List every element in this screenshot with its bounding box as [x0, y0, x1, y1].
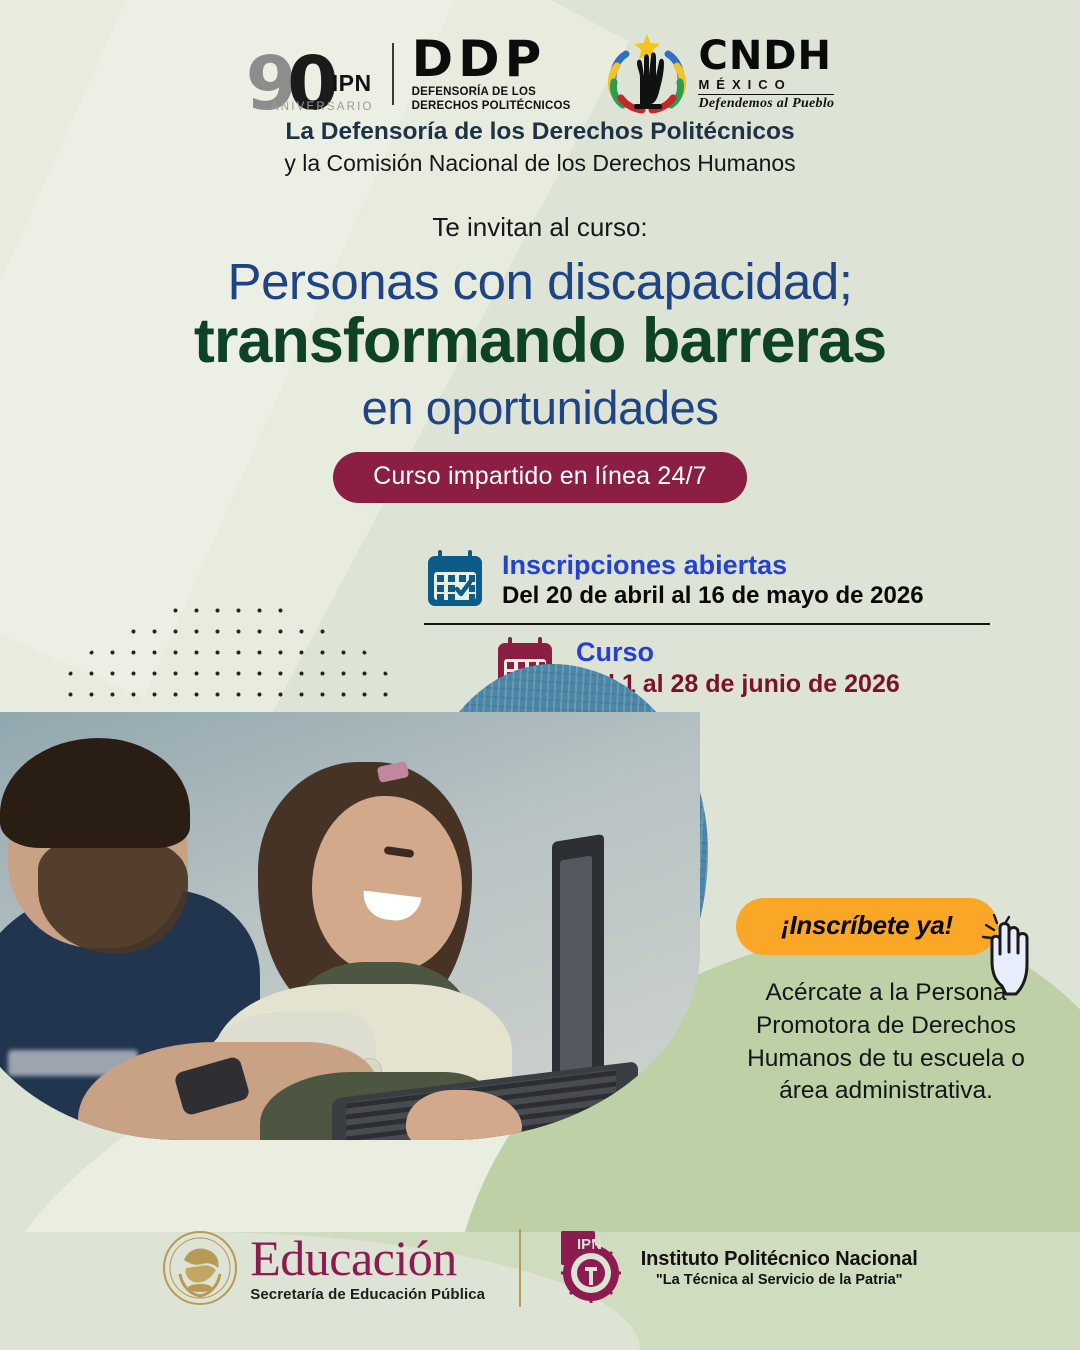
cndh-emblem-icon	[604, 32, 690, 116]
ddp-subtitle: DEFENSORÍA DE LOS DERECHOS POLITÉCNICOS	[412, 86, 571, 113]
logo-divider	[392, 43, 394, 105]
enroll-now-label: ¡Inscríbete ya!	[781, 910, 953, 940]
organizer-line-1: La Defensoría de los Derechos Politécnic…	[0, 118, 1080, 146]
mentor-and-student-photo	[0, 712, 700, 1140]
student-face	[312, 796, 462, 972]
organizer-line-2: y la Comisión Nacional de los Derechos H…	[0, 150, 1080, 177]
numeral-zero: 0	[287, 41, 335, 127]
cndh-acronym: CNDH	[698, 36, 834, 76]
ipn-seal-icon: IPN	[555, 1227, 629, 1309]
footer-divider	[519, 1229, 521, 1307]
course-title-line-3: en oportunidades	[0, 380, 1080, 435]
anniversary-label: ANIVERSARIO	[271, 101, 374, 113]
ipn-acronym: IPN	[332, 70, 372, 97]
modality-badge: Curso impartido en línea 24/7	[333, 452, 747, 503]
enroll-now-button[interactable]: ¡Inscríbete ya!	[736, 898, 998, 955]
sep-subtitle: Secretaría de Educación Pública	[250, 1286, 485, 1303]
pointing-hand-cursor-icon	[980, 914, 1050, 1000]
invitation-text: Te invitan al curso:	[0, 212, 1080, 243]
cndh-logo: CNDH MÉXICO Defendemos al Pueblo	[604, 32, 834, 116]
course-title-line-2: transformando barreras	[0, 305, 1080, 377]
cndh-text: CNDH MÉXICO Defendemos al Pueblo	[698, 36, 834, 113]
poster-root: 90 IPN ANIVERSARIO DDP DEFENSORÍA DE LOS…	[0, 0, 1080, 1350]
course-title-line-1: Personas con discapacidad;	[0, 252, 1080, 311]
ipn-90-anniversary-logo: 90 IPN ANIVERSARIO	[246, 33, 374, 115]
ipn-logo-text: Instituto Politécnico Nacional "La Técni…	[641, 1248, 918, 1288]
ipn-motto: "La Técnica al Servicio de la Patria"	[641, 1272, 918, 1288]
enrollment-heading: Inscripciones abiertas	[502, 550, 924, 580]
ipn-title: Instituto Politécnico Nacional	[641, 1248, 918, 1271]
cndh-rule	[698, 94, 834, 96]
photo-composition	[0, 596, 700, 1140]
footer-logos: Educación Secretaría de Educación Públic…	[0, 1220, 1080, 1316]
ddp-subtitle-line1: DEFENSORÍA DE LOS	[412, 86, 571, 100]
ddp-logo: DDP DEFENSORÍA DE LOS DERECHOS POLITÉCNI…	[412, 35, 571, 113]
header-logo-row: 90 IPN ANIVERSARIO DDP DEFENSORÍA DE LOS…	[0, 26, 1080, 122]
modality-badge-wrapper: Curso impartido en línea 24/7	[0, 452, 1080, 503]
mexican-national-seal-icon	[162, 1230, 238, 1306]
ddp-acronym: DDP	[412, 35, 571, 83]
sep-title: Educación	[250, 1233, 485, 1283]
ddp-subtitle-line2: DERECHOS POLITÉCNICOS	[412, 100, 571, 114]
cndh-slogan: Defendemos al Pueblo	[698, 96, 834, 112]
sep-logo-text: Educación Secretaría de Educación Públic…	[250, 1233, 485, 1303]
cta-section: ¡Inscríbete ya! Acércate a la Persona Pr…	[736, 898, 1036, 1108]
cndh-country: MÉXICO	[698, 77, 834, 92]
laptop-screen-inner	[560, 855, 592, 1074]
